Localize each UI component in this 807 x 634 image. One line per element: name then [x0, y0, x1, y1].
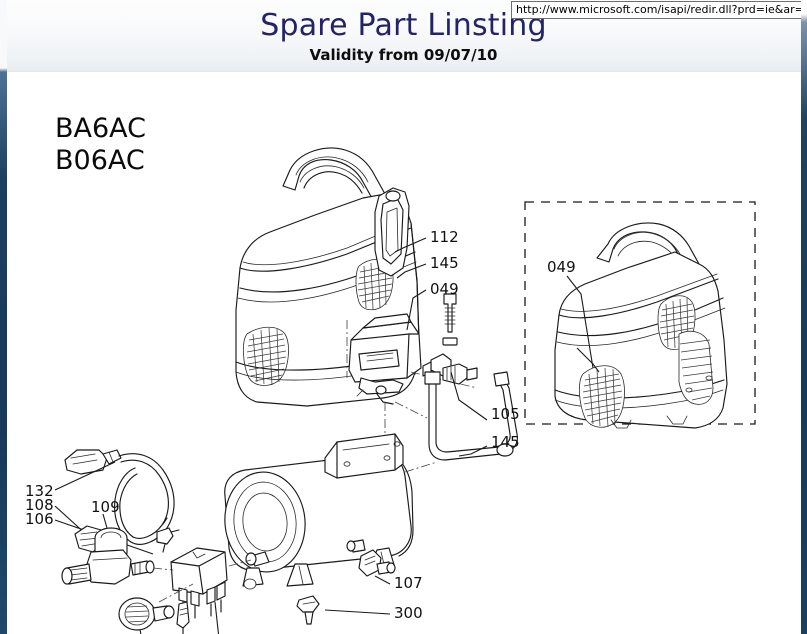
part-049-bolt [443, 294, 457, 345]
leader-107 [375, 576, 390, 584]
frame-edge-right [801, 0, 807, 634]
callout-109-switch: 109 [91, 498, 120, 516]
tank-foot-bolt [244, 579, 256, 589]
callout-145-hose: 145 [491, 433, 520, 451]
link-switch-to-relay [153, 568, 173, 570]
leader-300 [325, 610, 390, 614]
callout-049-detail: 049 [547, 258, 576, 276]
model-name-1: BA6AC [55, 113, 146, 144]
cover-vent-left [243, 327, 288, 385]
callout-049: 049 [430, 280, 459, 298]
model-name-2: B06AC [55, 145, 145, 176]
status-bar-url: http://www.microsoft.com/isapi/redir.dll… [511, 1, 806, 19]
callout-145: 145 [430, 254, 459, 272]
callout-112: 112 [430, 228, 459, 246]
part-300-drain-plug [297, 596, 319, 624]
detail-vent-left [579, 366, 624, 428]
frame-edge-left [0, 0, 7, 634]
detail-vent-side [679, 331, 713, 404]
callout-107: 107 [394, 574, 423, 592]
link-tank-to-hose [405, 462, 437, 472]
assembly-centerline-diag [395, 402, 427, 418]
document-page: Spare Part Linsting Validity from 09/07/… [0, 0, 807, 634]
leader-109-gauge [140, 630, 144, 634]
part-109-gauge [119, 598, 174, 630]
callout-106: 106 [25, 510, 54, 528]
callout-300: 300 [394, 604, 423, 622]
leader-131 [215, 602, 220, 634]
diagram-sheet: BA6AC B06AC [7, 72, 801, 634]
callout-105: 105 [491, 405, 520, 423]
detail-view-box: 049 [525, 202, 755, 428]
leader-109-switch [103, 514, 107, 528]
part-110-thermal-fuse [177, 602, 189, 634]
part-112-145-clip [375, 188, 409, 276]
validity-subtitle: Validity from 09/07/10 [0, 46, 807, 64]
